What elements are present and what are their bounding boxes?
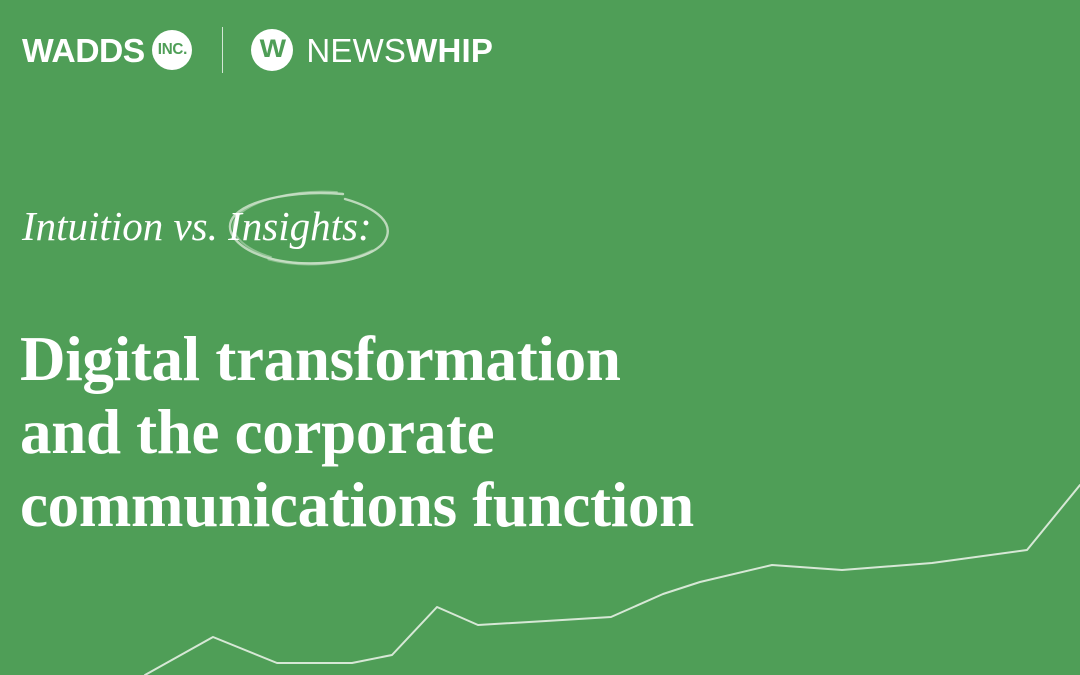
newswhip-wordmark-news: NEWS <box>306 32 406 69</box>
eyebrow-container: Intuition vs. Insights: <box>22 196 372 258</box>
newswhip-w-icon: W <box>251 29 293 71</box>
wadds-inc-logo[interactable]: WADDS INC. <box>22 30 192 70</box>
logo-divider <box>222 27 223 73</box>
slide-canvas: WADDS INC. W NEWSWHIP Intuition vs. Insi… <box>0 0 1080 675</box>
eyebrow-text: Intuition vs. Insights: <box>22 196 372 247</box>
newswhip-logo[interactable]: W NEWSWHIP <box>251 29 493 71</box>
newswhip-wordmark: NEWSWHIP <box>306 34 493 67</box>
wadds-inc-badge-label: INC. <box>158 42 187 58</box>
newswhip-w-glyph: W <box>259 37 285 62</box>
wadds-wordmark: WADDS <box>22 34 145 67</box>
logo-bar: WADDS INC. W NEWSWHIP <box>22 22 493 78</box>
headline-line-2: and the corporate <box>20 396 694 469</box>
headline-line-1: Digital transformation <box>20 323 694 396</box>
headline-line-3: communications function <box>20 469 694 542</box>
newswhip-wordmark-whip: WHIP <box>406 32 493 69</box>
wadds-inc-badge-icon: INC. <box>152 30 192 70</box>
page-title: Digital transformation and the corporate… <box>20 323 694 542</box>
